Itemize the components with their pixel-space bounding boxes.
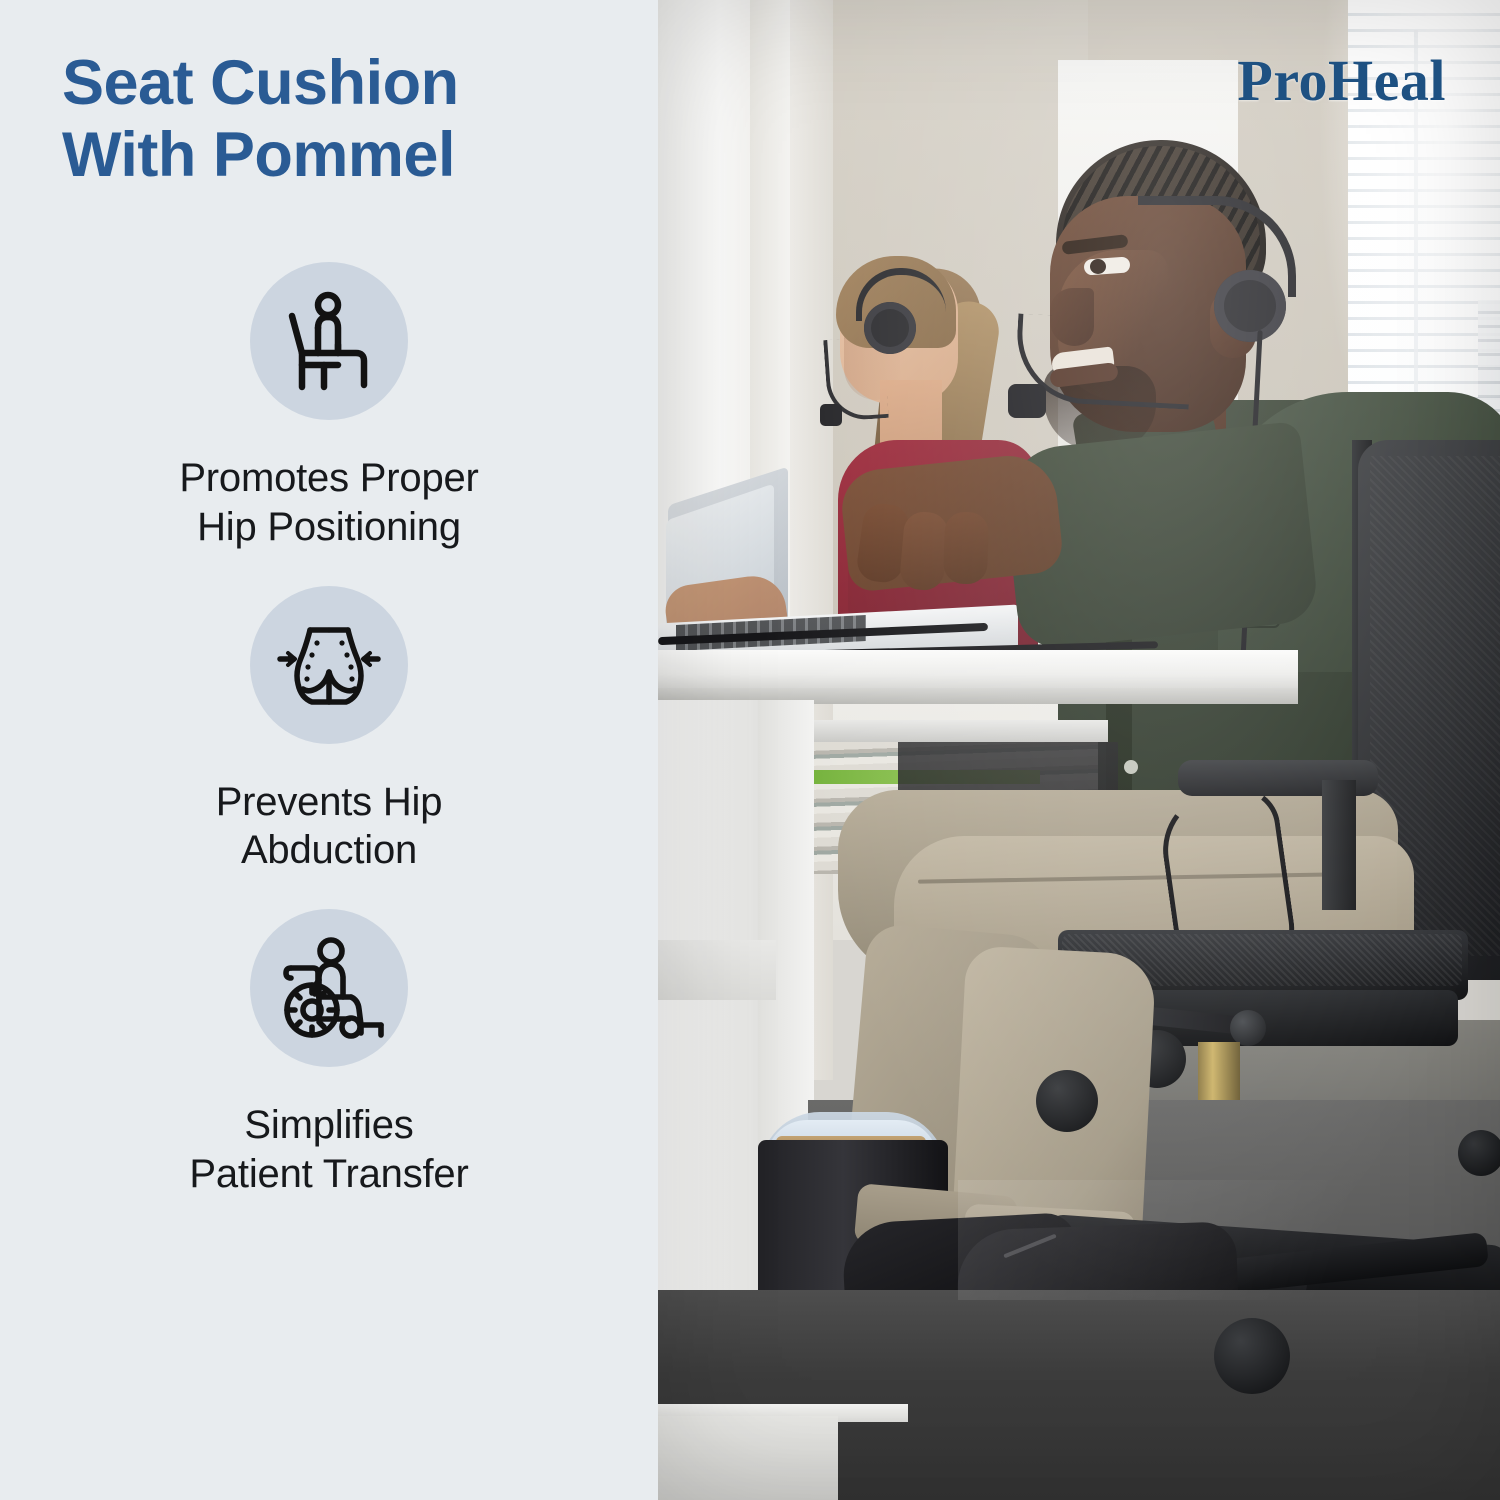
- feature-3-line-1: Simplifies: [49, 1101, 609, 1150]
- product-lifestyle-photo: [658, 0, 1500, 1500]
- feature-item-hip-abduction: Prevents Hip Abduction: [0, 586, 658, 876]
- hips-inward-arrows-icon: [250, 586, 408, 744]
- man-finger-3: [943, 511, 989, 584]
- feature-3-line-2: Patient Transfer: [49, 1150, 609, 1199]
- floor-light-sheen: [958, 1180, 1498, 1300]
- left-info-panel: Seat Cushion With Pommel: [0, 0, 658, 1500]
- feature-item-hip-positioning: Promotes Proper Hip Positioning: [0, 262, 658, 552]
- feature-2-line-1: Prevents Hip: [49, 778, 609, 827]
- chair-caster-right: [1458, 1130, 1500, 1176]
- page-title: Seat Cushion With Pommel: [62, 48, 622, 192]
- title-line-1: Seat Cushion: [62, 48, 622, 120]
- title-line-2: With Pommel: [62, 120, 622, 192]
- chair-caster-front: [1214, 1318, 1290, 1394]
- shirt-button-4: [1124, 760, 1138, 774]
- desk-drawer-panel: [658, 940, 776, 1000]
- person-in-wheelchair-icon: [250, 909, 408, 1067]
- brand-logo: ProHeal: [1237, 52, 1446, 110]
- feature-label-hip-abduction: Prevents Hip Abduction: [49, 778, 609, 876]
- feature-label-patient-transfer: Simplifies Patient Transfer: [49, 1101, 609, 1199]
- man-headset-mic: [1008, 384, 1046, 418]
- cabinet-baseboard: [658, 1416, 838, 1500]
- man-headset-earpiece: [1214, 270, 1286, 342]
- feature-2-line-2: Abduction: [49, 826, 609, 875]
- feature-1-line-1: Promotes Proper: [49, 454, 609, 503]
- man-pupil: [1090, 259, 1106, 274]
- woman-headset-mic: [820, 404, 842, 426]
- man-finger-2: [899, 510, 950, 592]
- feature-list: Promotes Proper Hip Positioning: [0, 262, 658, 1233]
- chair-caster-left: [1036, 1070, 1098, 1132]
- chair-tension-knob: [1230, 1010, 1266, 1046]
- feature-item-patient-transfer: Simplifies Patient Transfer: [0, 909, 658, 1199]
- feature-label-hip-positioning: Promotes Proper Hip Positioning: [49, 454, 609, 552]
- feature-1-line-2: Hip Positioning: [49, 503, 609, 552]
- person-seated-on-chair-icon: [250, 262, 408, 420]
- chair-armrest-post: [1322, 780, 1356, 910]
- infographic-page: Seat Cushion With Pommel: [0, 0, 1500, 1500]
- desk-under-shelf: [808, 720, 1108, 742]
